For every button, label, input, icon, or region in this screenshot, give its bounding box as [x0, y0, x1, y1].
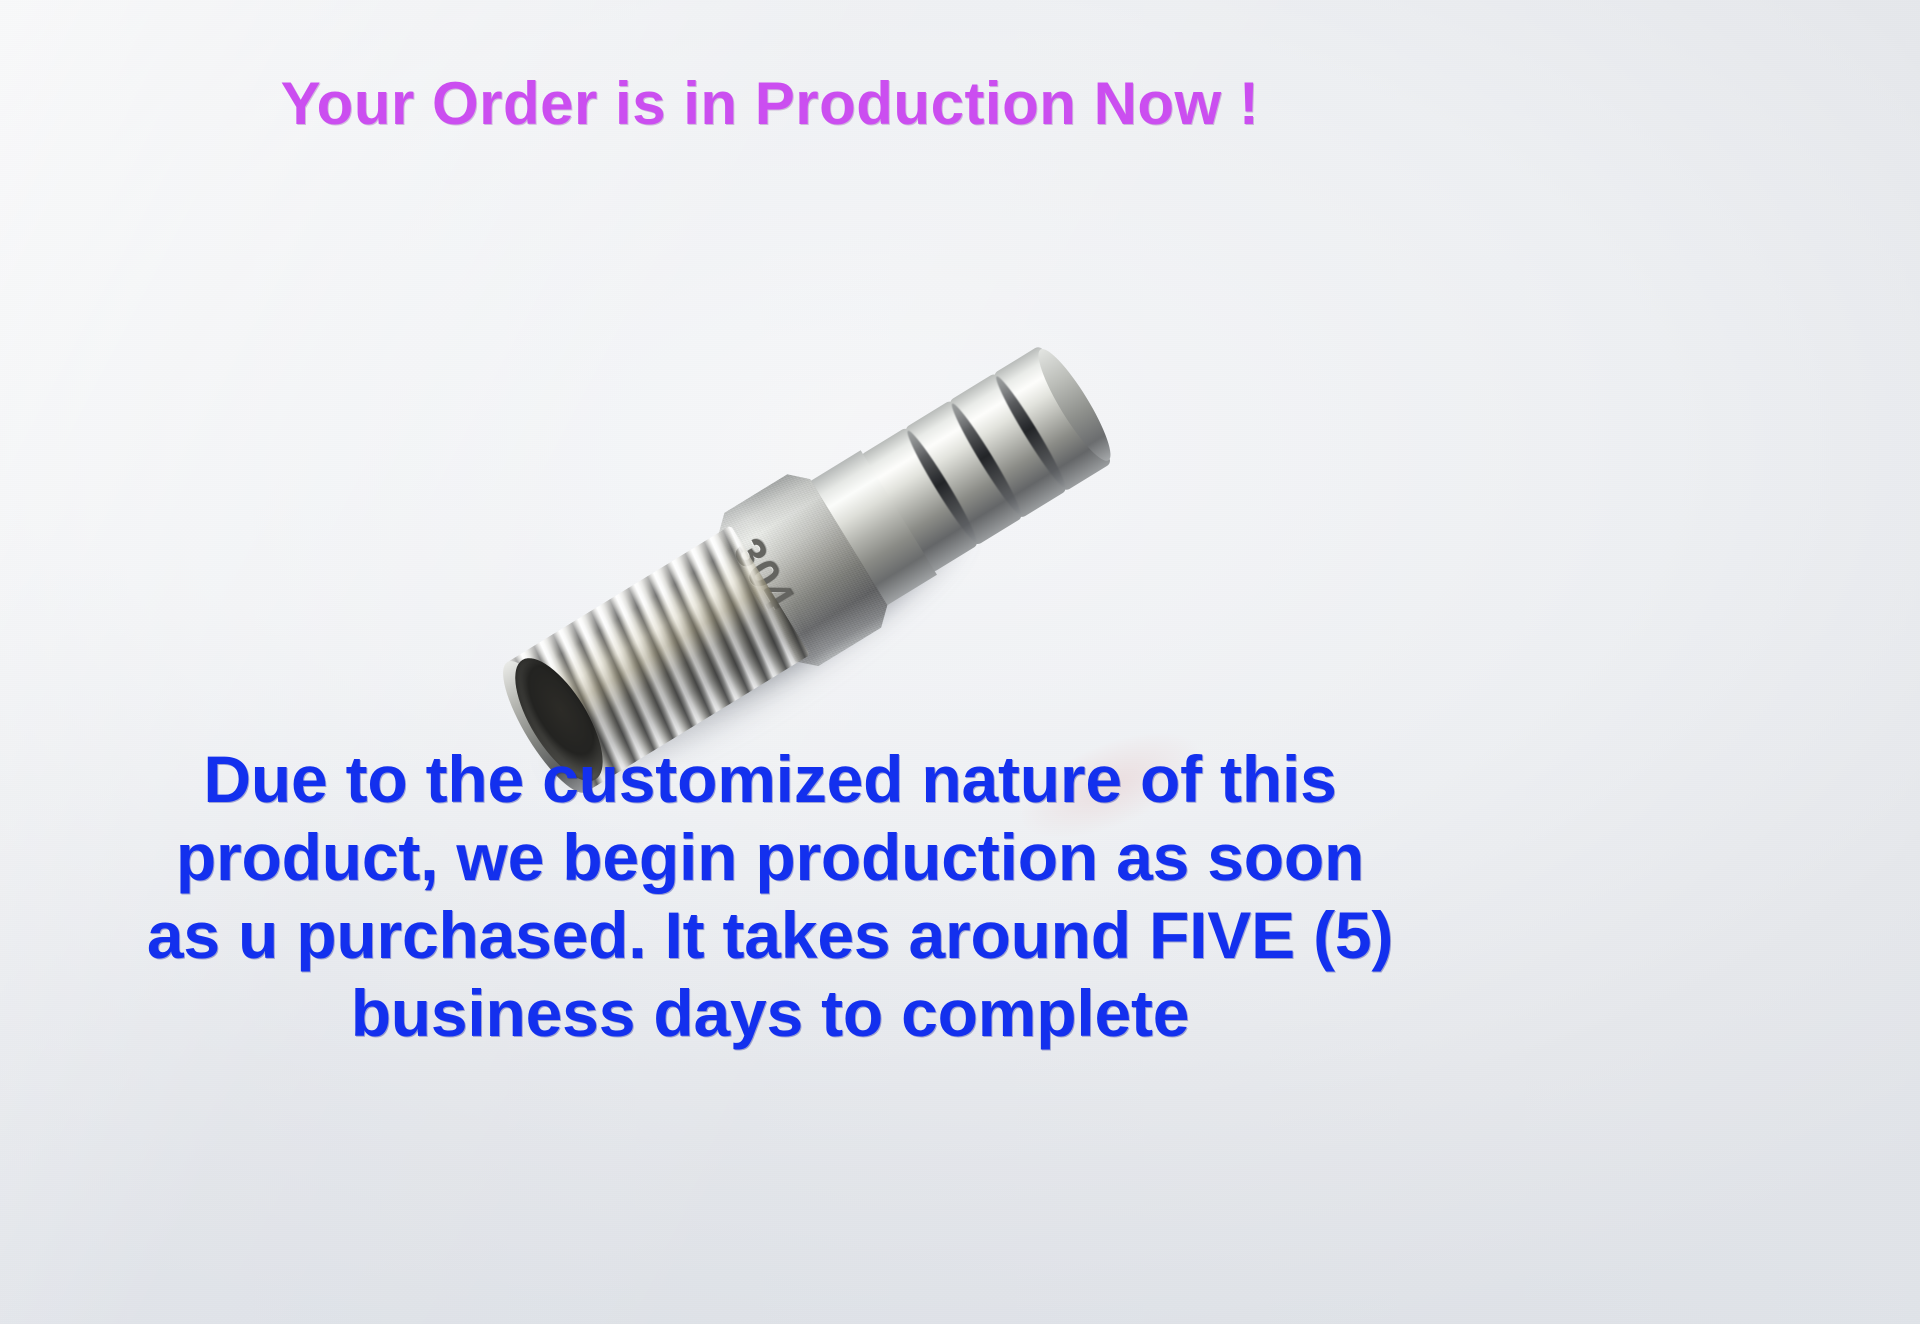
- promo-image-canvas: Your Order is in Production Now !: [0, 0, 1920, 1324]
- headline-text: Your Order is in Production Now !: [0, 72, 1540, 135]
- body-text-block: Due to the customized nature of this pro…: [0, 740, 1540, 1052]
- body-line-2: product, we begin production as soon: [0, 818, 1540, 896]
- body-line-1: Due to the customized nature of this: [0, 740, 1540, 818]
- product-photo: 304: [455, 300, 1155, 760]
- body-line-3: as u purchased. It takes around FIVE (5): [0, 896, 1540, 974]
- body-line-4: business days to complete: [0, 974, 1540, 1052]
